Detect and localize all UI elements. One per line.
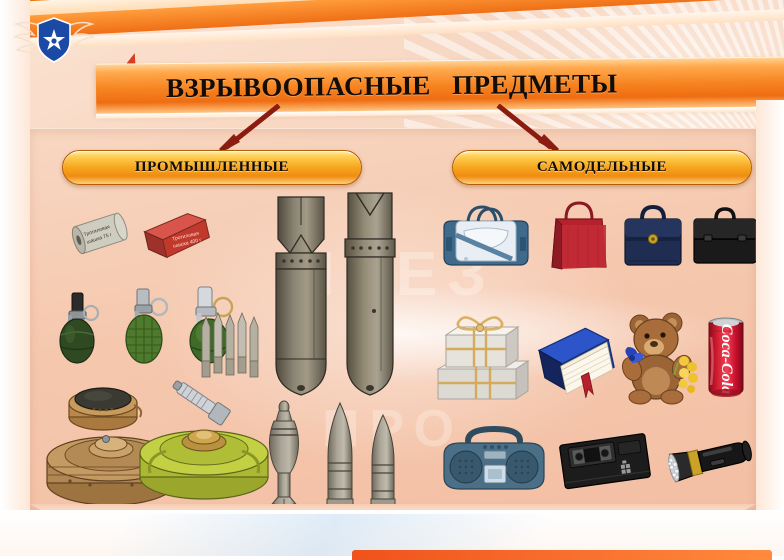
item-ammunition-cartridges [200,311,262,383]
item-artillery-shell-2 [362,413,404,510]
item-teddy-bear-toy [614,305,700,405]
item-wrapped-parcels [432,309,532,405]
item-portable-radio [438,421,550,497]
item-soda-can: Coca-Cola [700,313,752,401]
item-sports-duffel-bag [438,201,534,273]
emblem-star-center [51,38,56,43]
item-flashlight [664,431,756,489]
item-tnt-box-charge: Тротиловая шашка 400 г [138,207,212,263]
category-pill-improvised[interactable]: САМОДЕЛЬНЫЕ [452,150,752,185]
item-hand-grenade-rgd5 [50,289,106,369]
category-label-industrial: ПРОМЫШЛЕННЫЕ [135,159,289,176]
item-anti-tank-mine-green [134,417,274,505]
category-pill-industrial[interactable]: ПРОМЫШЛЕННЫЕ [62,150,362,185]
svg-text:Coca-Cola: Coca-Cola [718,324,735,394]
item-artillery-shell-1 [318,401,362,510]
item-tnt-cylinder-charge: Тротиловая шашка 75 г [68,209,134,259]
industrial-items-group: Тротиловая шашка 75 г Тротиловая шашка 4… [30,129,428,510]
item-vhs-cassette [556,429,656,493]
item-aerial-bomb-large-1 [264,195,338,399]
item-blue-book [534,321,618,401]
page-title: ВЗРЫВООПАСНЫЕ ПРЕДМЕТЫ [96,68,618,104]
bottom-accent-bar [352,550,772,560]
item-navy-briefcase [620,201,686,271]
improvised-items-group: Coca-Cola [428,129,756,510]
item-aerial-bomb-large-2 [334,191,406,399]
bottom-frame-strip [0,510,784,556]
item-black-attache-case [690,203,756,271]
poster-root: ВЗРЫВООПАСНЫЕ ПРЕДМЕТЫ [0,0,784,556]
item-shopping-bag [548,197,610,273]
content-panel: ПРЕЗ ПРО Тротиловая шашка 75 г [30,128,756,510]
mchs-emblem [8,6,100,80]
right-frame-edge [756,100,784,520]
item-mortar-shell [258,399,310,510]
category-label-improvised: САМОДЕЛЬНЫЕ [537,159,667,176]
item-hand-grenade-f1 [116,287,174,369]
